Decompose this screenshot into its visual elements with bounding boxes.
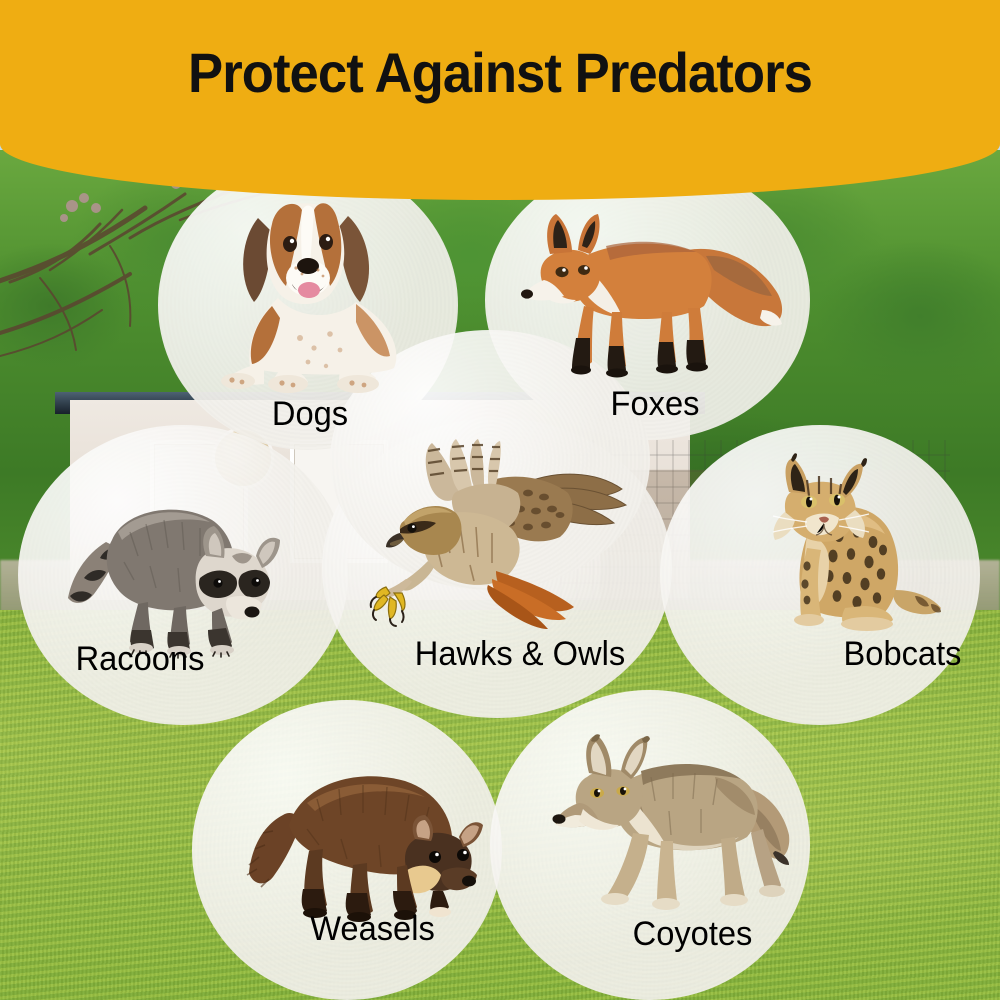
predator-infographic-poster: Protect Against Predators <box>0 0 1000 1000</box>
predator-card-label-racoons: Racoons <box>20 640 260 679</box>
predator-card-label-coyotes: Coyotes <box>565 915 819 954</box>
predator-card-dogs[interactable]: Dogs <box>180 170 440 430</box>
predator-card-bobcats[interactable]: Bobcats <box>745 440 960 675</box>
dog-icon <box>180 170 440 395</box>
bobcat-icon <box>745 440 960 640</box>
predator-card-weasels[interactable]: Weasels <box>245 745 510 960</box>
raccoon-icon <box>60 470 310 655</box>
predator-card-label-foxes: Foxes <box>516 385 794 424</box>
page-title: Protect Against Predators <box>30 40 970 105</box>
predator-card-racoons[interactable]: Racoons <box>60 470 310 700</box>
weasel-icon <box>245 745 510 920</box>
predator-card-foxes[interactable]: Foxes <box>510 190 800 430</box>
predator-card-label-bobcats: Bobcats <box>799 635 1000 674</box>
predator-card-label-weasels: Weasels <box>245 910 499 949</box>
header-band: Protect Against Predators <box>0 0 1000 200</box>
predator-card-label-hawks-owls: Hawks & Owls <box>390 635 649 674</box>
predator-card-label-dogs: Dogs <box>185 395 435 434</box>
coyote-icon <box>545 715 810 920</box>
predator-card-hawks-owls[interactable]: Hawks & Owls <box>370 435 640 665</box>
fox-icon <box>510 190 800 385</box>
predator-card-coyotes[interactable]: Coyotes <box>545 715 810 960</box>
hawk-icon <box>370 435 640 640</box>
